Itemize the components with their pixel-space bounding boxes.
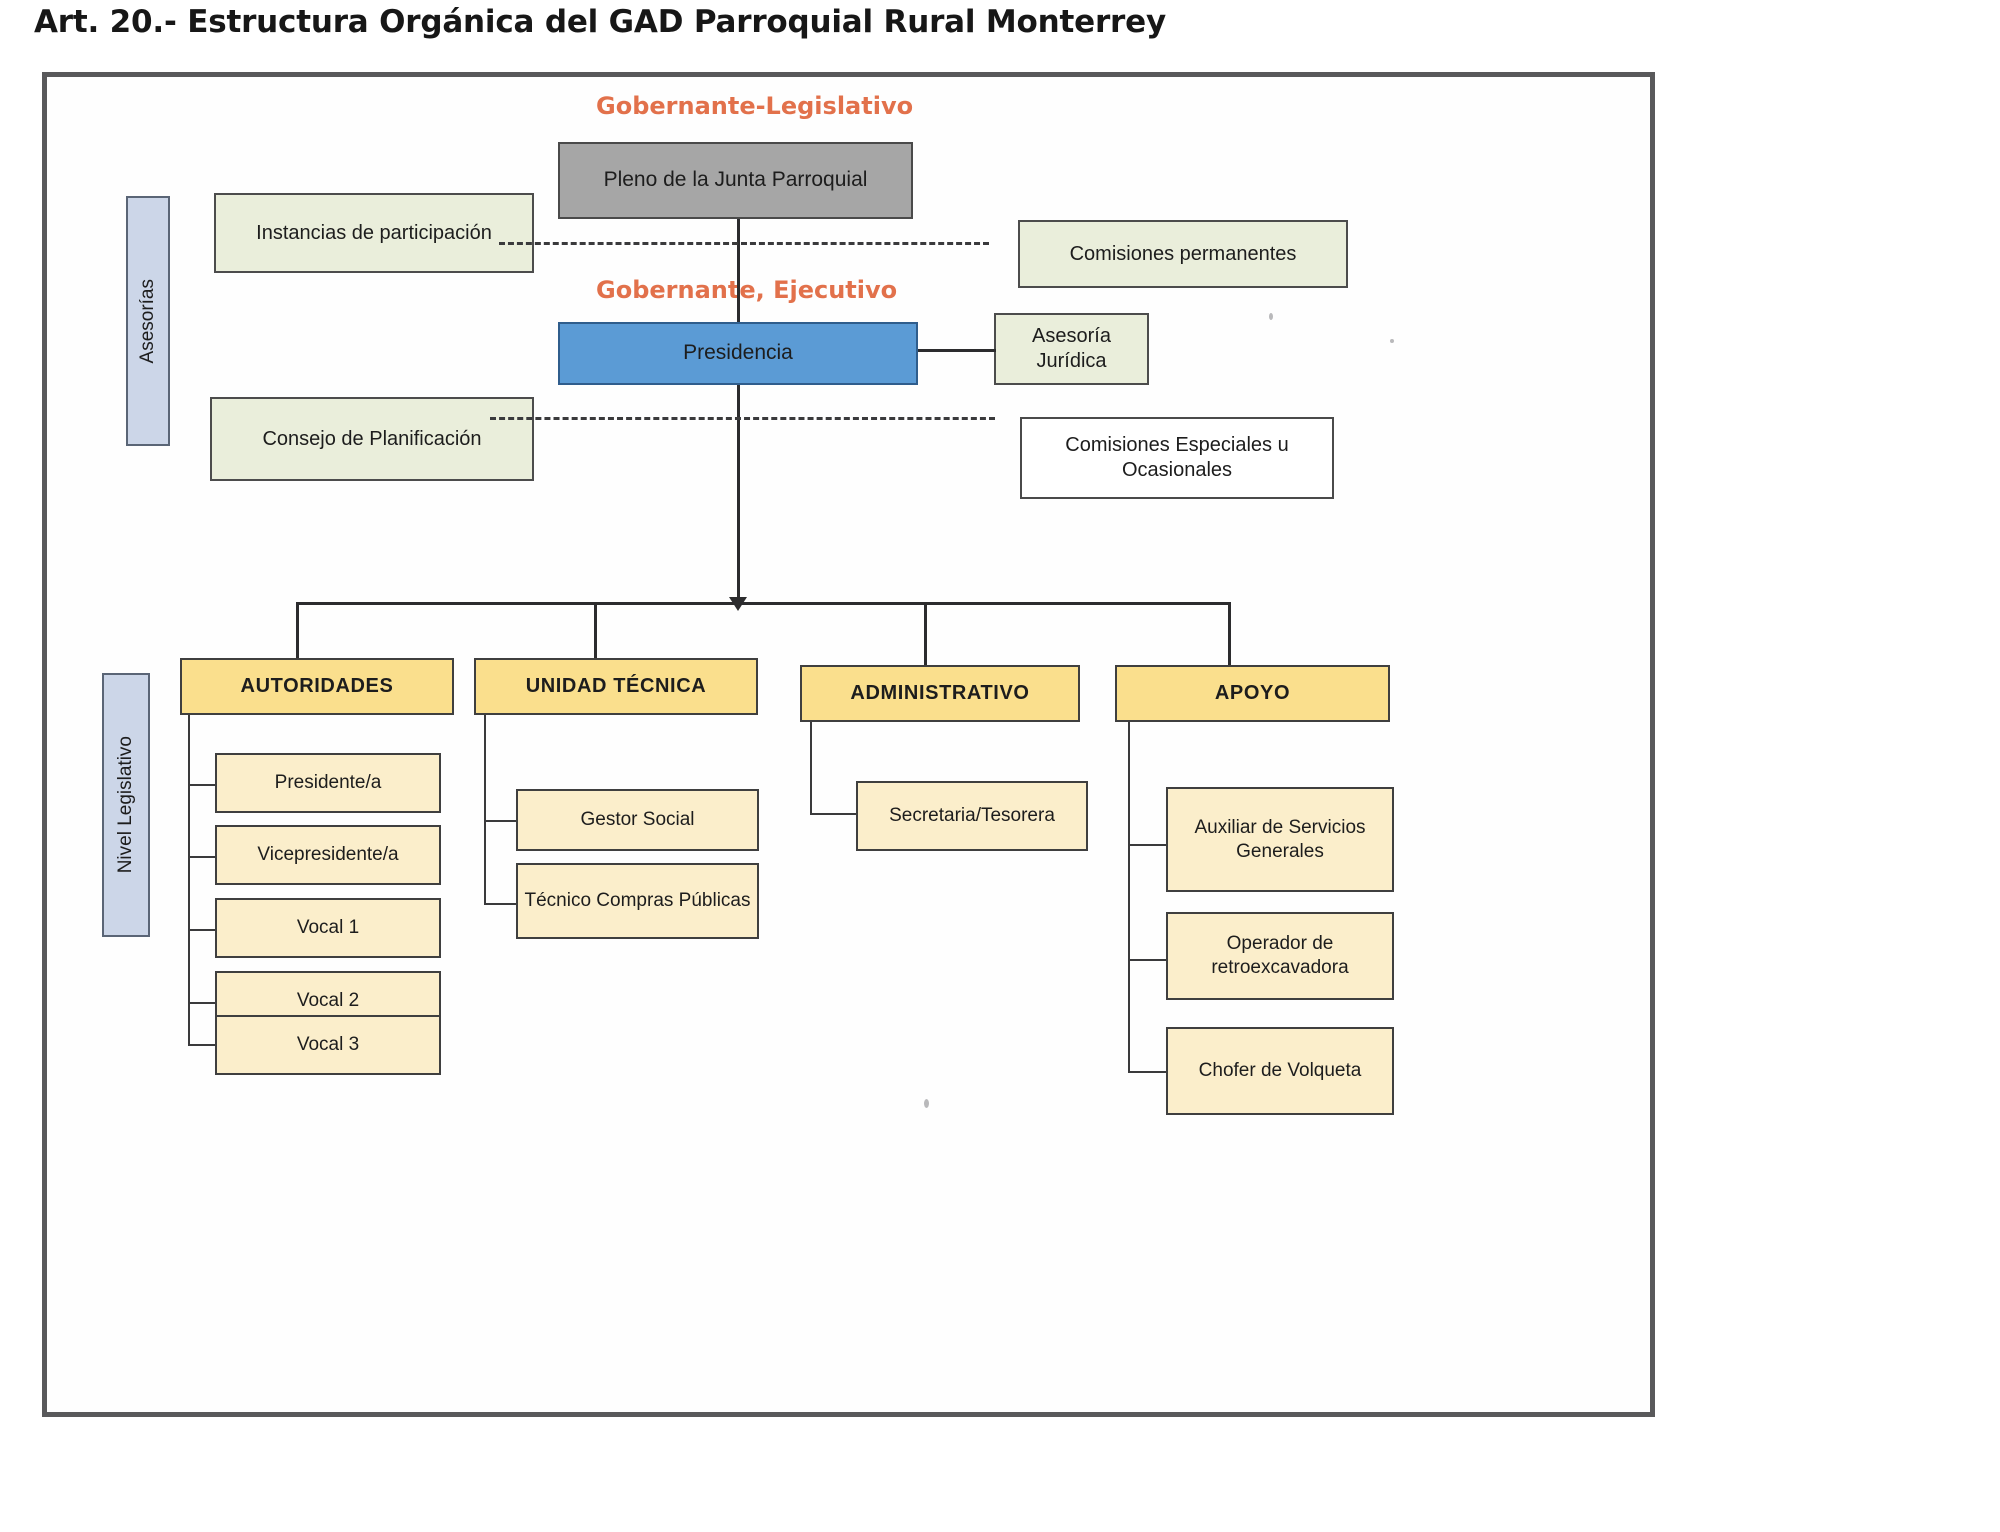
connector-autoridades-3 (188, 929, 215, 931)
node-department-autoridades-label: AUTORIDADES (241, 674, 394, 699)
connector-autoridades-5 (188, 1044, 215, 1046)
page-title: Art. 20.- Estructura Orgánica del GAD Pa… (34, 4, 1166, 40)
node-presidente[interactable]: Presidente/a (215, 753, 441, 813)
connector-autoridades-2 (188, 856, 215, 858)
connector-department-bus (296, 602, 1231, 605)
node-auxiliar-servicios-generales[interactable]: Auxiliar de Servicios Generales (1166, 787, 1394, 892)
node-auxiliar-servicios-generales-label: Auxiliar de Servicios Generales (1174, 816, 1386, 864)
connector-autoridades-spine (188, 715, 190, 1045)
node-gestor-social[interactable]: Gestor Social (516, 789, 759, 851)
caption-gobernante-ejecutivo: Gobernante, Ejecutivo (596, 276, 897, 304)
side-label-asesorias: Asesorías (126, 196, 170, 446)
node-comisiones-especiales-label: Comisiones Especiales u Ocasionales (1028, 433, 1326, 483)
node-instancias-participacion-label: Instancias de participación (256, 221, 492, 246)
connector-unidad-tecnica-1 (484, 820, 516, 822)
connector-apoyo-3 (1128, 1071, 1166, 1073)
node-comisiones-permanentes[interactable]: Comisiones permanentes (1018, 220, 1348, 288)
node-vocal-3-label: Vocal 3 (297, 1033, 359, 1057)
scan-speck (1269, 313, 1273, 320)
connector-apoyo-spine (1128, 722, 1130, 1072)
side-label-nivel-legislativo: Nivel Legislativo (102, 673, 150, 937)
node-department-autoridades[interactable]: AUTORIDADES (180, 658, 454, 715)
node-chofer-volqueta[interactable]: Chofer de Volqueta (1166, 1027, 1394, 1115)
connector-presidencia-to-asesoria-juridica (918, 349, 996, 352)
node-presidencia[interactable]: Presidencia (558, 322, 918, 385)
node-comisiones-permanentes-label: Comisiones permanentes (1070, 242, 1297, 267)
node-department-apoyo[interactable]: APOYO (1115, 665, 1390, 722)
side-label-nivel-legislativo-text: Nivel Legislativo (115, 736, 137, 873)
org-chart-frame: Gobernante-Legislativo Gobernante, Ejecu… (42, 72, 1655, 1417)
connector-unidad-tecnica-2 (484, 903, 516, 905)
node-consejo-planificacion[interactable]: Consejo de Planificación (210, 397, 534, 481)
node-vocal-1-label: Vocal 1 (297, 916, 359, 940)
connector-administrativo-spine (810, 722, 812, 814)
connector-apoyo-1 (1128, 844, 1166, 846)
scan-speck (1390, 339, 1394, 343)
divider-dashed-legislativo (499, 242, 989, 245)
node-department-unidad-tecnica-label: UNIDAD TÉCNICA (526, 674, 707, 699)
connector-administrativo-1 (810, 813, 856, 815)
node-secretaria-tesorera[interactable]: Secretaria/Tesorera (856, 781, 1088, 851)
connector-unidad-tecnica-spine (484, 715, 486, 905)
node-department-administrativo-label: ADMINISTRATIVO (850, 681, 1029, 706)
connector-autoridades-1 (188, 784, 215, 786)
node-operador-retroexcavadora[interactable]: Operador de retroexcavadora (1166, 912, 1394, 1000)
connector-drop-apoyo (1228, 602, 1231, 665)
node-pleno-label: Pleno de la Junta Parroquial (604, 167, 868, 193)
scan-speck (924, 1099, 929, 1108)
node-presidente-label: Presidente/a (275, 771, 382, 795)
node-consejo-planificacion-label: Consejo de Planificación (262, 427, 481, 452)
node-operador-retroexcavadora-label: Operador de retroexcavadora (1174, 932, 1386, 980)
side-label-asesorias-text: Asesorías (137, 279, 159, 363)
connector-autoridades-4 (188, 1002, 215, 1004)
node-pleno-junta-parroquial[interactable]: Pleno de la Junta Parroquial (558, 142, 913, 219)
node-presidencia-label: Presidencia (683, 340, 793, 366)
node-tecnico-compras-publicas[interactable]: Técnico Compras Públicas (516, 863, 759, 939)
node-department-administrativo[interactable]: ADMINISTRATIVO (800, 665, 1080, 722)
node-department-unidad-tecnica[interactable]: UNIDAD TÉCNICA (474, 658, 758, 715)
node-instancias-participacion[interactable]: Instancias de participación (214, 193, 534, 273)
node-asesoria-juridica-label: Asesoría Jurídica (1002, 324, 1141, 374)
caption-gobernante-legislativo: Gobernante-Legislativo (596, 92, 913, 120)
node-vocal-1[interactable]: Vocal 1 (215, 898, 441, 958)
node-secretaria-tesorera-label: Secretaria/Tesorera (889, 804, 1055, 828)
node-tecnico-compras-publicas-label: Técnico Compras Públicas (525, 889, 751, 913)
connector-drop-administrativo (924, 602, 927, 665)
node-vocal-2-label: Vocal 2 (297, 989, 359, 1013)
connector-pleno-to-presidencia (737, 219, 740, 322)
node-vicepresidente-label: Vicepresidente/a (257, 843, 398, 867)
divider-dashed-ejecutivo (490, 417, 995, 420)
node-department-apoyo-label: APOYO (1215, 681, 1290, 706)
node-vicepresidente[interactable]: Vicepresidente/a (215, 825, 441, 885)
node-comisiones-especiales[interactable]: Comisiones Especiales u Ocasionales (1020, 417, 1334, 499)
connector-drop-unidad-tecnica (594, 602, 597, 658)
node-asesoria-juridica[interactable]: Asesoría Jurídica (994, 313, 1149, 385)
connector-apoyo-2 (1128, 959, 1166, 961)
connector-drop-autoridades (296, 602, 299, 658)
node-chofer-volqueta-label: Chofer de Volqueta (1199, 1059, 1362, 1083)
node-vocal-3[interactable]: Vocal 3 (215, 1015, 441, 1075)
node-gestor-social-label: Gestor Social (580, 808, 694, 832)
